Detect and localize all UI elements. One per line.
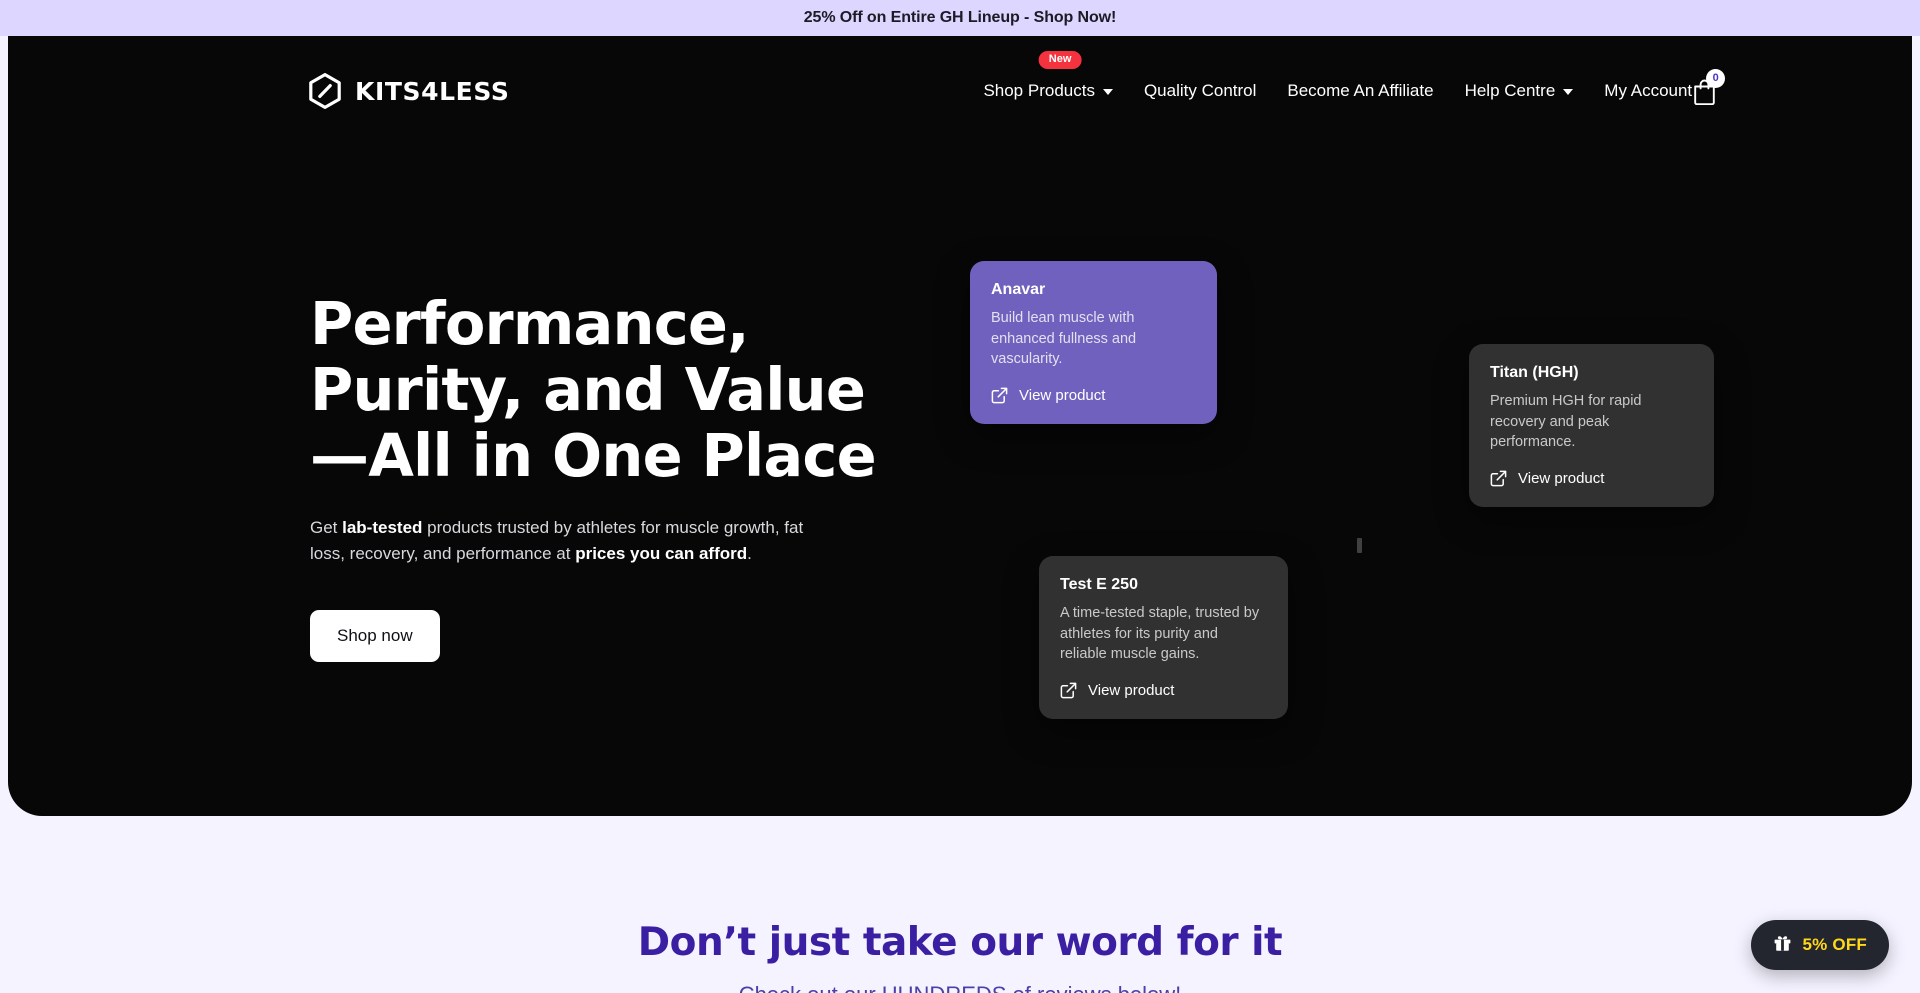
product-card-title: Titan (HGH) — [1490, 364, 1692, 382]
product-card-test-e-250[interactable]: Test E 250 A time-tested staple, trusted… — [1039, 556, 1288, 719]
nav-item-quality-control[interactable]: Quality Control — [1144, 75, 1256, 107]
hero-content: Performance, Purity, and Value —All in O… — [310, 291, 910, 662]
hero-title-line-3: —All in One Place — [310, 421, 876, 490]
nav-badge-new: New — [1039, 51, 1082, 69]
nav-item-shop-products[interactable]: New Shop Products — [983, 75, 1113, 107]
view-product-link[interactable]: View product — [1490, 470, 1692, 487]
cart-button[interactable]: 0 — [1692, 78, 1717, 105]
product-card-title: Test E 250 — [1060, 576, 1266, 594]
discount-widget-button[interactable]: 5% OFF — [1751, 920, 1890, 970]
nav-label-help-centre: Help Centre — [1465, 81, 1556, 101]
hero-title-line-1: Performance, — [310, 289, 749, 358]
nav-label-shop-products: Shop Products — [983, 81, 1095, 101]
gift-icon — [1773, 933, 1792, 957]
cart-item-count: 0 — [1706, 69, 1725, 88]
view-product-label: View product — [1518, 470, 1604, 487]
external-link-icon — [991, 387, 1008, 404]
view-product-link[interactable]: View product — [991, 387, 1195, 404]
external-link-icon — [1060, 682, 1077, 699]
product-card-titan-hgh[interactable]: Titan (HGH) Premium HGH for rapid recove… — [1469, 344, 1714, 507]
reviews-section: Don’t just take our word for it Check ou… — [0, 816, 1920, 993]
main-navigation: New Shop Products Quality Control Become… — [983, 75, 1692, 107]
external-link-icon — [1490, 470, 1507, 487]
site-header: KITS4LESS New Shop Products Quality Cont… — [8, 36, 1912, 146]
product-card-description: A time-tested staple, trusted by athlete… — [1060, 603, 1266, 665]
announcement-text: 25% Off on Entire GH Lineup - Shop Now! — [804, 9, 1117, 27]
hero-title-line-2: Purity, and Value — [310, 355, 865, 424]
nav-item-become-an-affiliate[interactable]: Become An Affiliate — [1287, 75, 1433, 107]
nav-label-my-account: My Account — [1604, 81, 1692, 101]
product-card-description: Build lean muscle with enhanced fullness… — [991, 308, 1195, 370]
view-product-label: View product — [1088, 682, 1174, 699]
reviews-subtitle: Check out our HUNDREDS of reviews below! — [0, 982, 1920, 993]
hero-subtitle-bold-2: prices you can afford — [575, 544, 747, 563]
nav-label-quality-control: Quality Control — [1144, 81, 1256, 101]
product-card-anavar[interactable]: Anavar Build lean muscle with enhanced f… — [970, 261, 1217, 424]
chevron-down-icon — [1103, 89, 1113, 95]
nav-item-help-centre[interactable]: Help Centre — [1465, 75, 1574, 107]
page-title: Performance, Purity, and Value —All in O… — [310, 291, 910, 489]
hero-section: KITS4LESS New Shop Products Quality Cont… — [8, 36, 1912, 816]
product-card-description: Premium HGH for rapid recovery and peak … — [1490, 391, 1692, 453]
shop-now-button[interactable]: Shop now — [310, 610, 440, 662]
announcement-bar[interactable]: 25% Off on Entire GH Lineup - Shop Now! — [0, 0, 1920, 36]
hexagon-slash-logo-icon — [308, 73, 342, 109]
discount-label: 5% OFF — [1803, 935, 1868, 955]
hero-subtitle: Get lab-tested products trusted by athle… — [310, 515, 820, 566]
product-card-title: Anavar — [991, 281, 1195, 299]
chevron-down-icon — [1563, 89, 1573, 95]
view-product-link[interactable]: View product — [1060, 682, 1266, 699]
brand-logo[interactable]: KITS4LESS — [308, 73, 509, 109]
brand-name: KITS4LESS — [355, 77, 509, 106]
reviews-title: Don’t just take our word for it — [0, 920, 1920, 965]
hero-subtitle-part-3: . — [747, 544, 752, 563]
hero-subtitle-bold-1: lab-tested — [342, 518, 422, 537]
view-product-label: View product — [1019, 387, 1105, 404]
nav-label-become-an-affiliate: Become An Affiliate — [1287, 81, 1433, 101]
background-vial-artifact — [1357, 538, 1362, 553]
nav-item-my-account[interactable]: My Account — [1604, 75, 1692, 107]
hero-subtitle-part-1: Get — [310, 518, 342, 537]
